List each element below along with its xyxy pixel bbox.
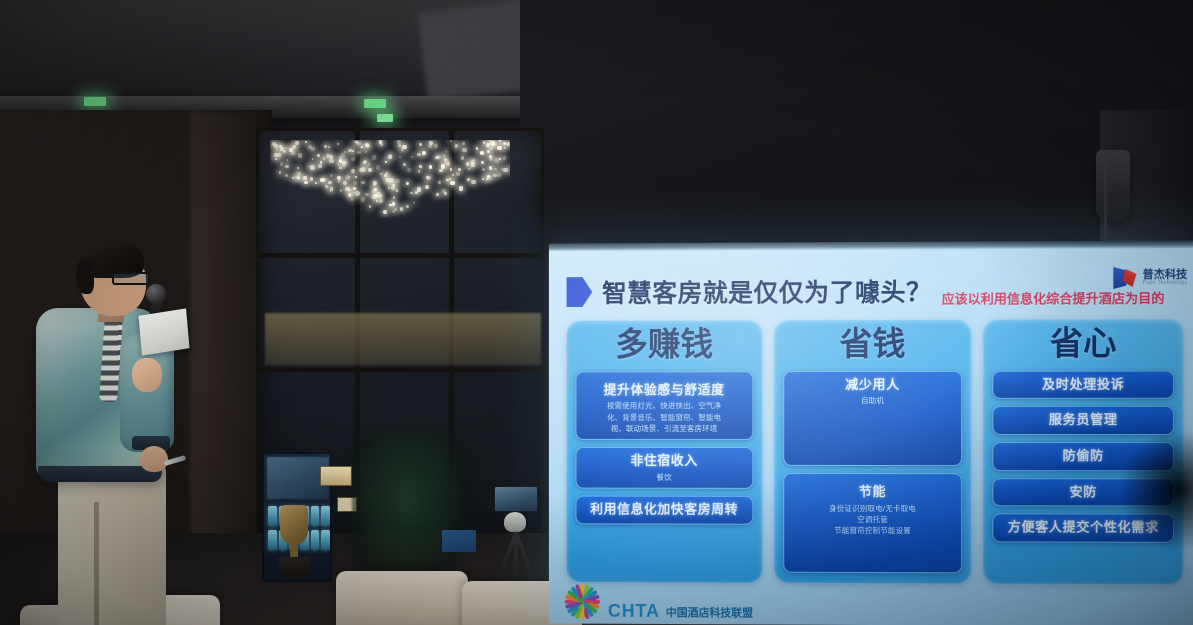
wall-sign — [320, 466, 352, 486]
card-title: 方便客人提交个性化需求 — [999, 518, 1168, 536]
card-body-line: 按需使用灯光、快进快出、空气净 — [581, 401, 747, 412]
sofa — [336, 571, 468, 625]
corporate-logo-name: 普杰科技 Pujie Technology — [1143, 269, 1188, 286]
glass-rail — [259, 367, 541, 372]
presenter-trousers — [58, 462, 166, 625]
potted-plant — [352, 430, 472, 590]
card-body: 身份证识别取电/无卡取电空调托管节能窗帘控制节能设置 — [789, 502, 957, 536]
card-title: 节能 — [789, 483, 957, 501]
exit-sign-icon — [377, 114, 393, 122]
pujie-logo-icon — [1113, 267, 1137, 289]
card-title: 安防 — [999, 483, 1168, 501]
crystal-chandelier — [270, 140, 510, 218]
slide-subtitle: 应该以利用信息化综合提升酒店为目的 — [942, 287, 1165, 307]
card-title: 利用信息化加快客房周转 — [581, 501, 747, 519]
footer-logo: CHTA 中国酒店科技联盟 — [563, 582, 753, 623]
card-body: 餐饮 — [581, 471, 747, 482]
column-title: 省心 — [993, 325, 1175, 365]
screenshot-stage: 智慧客房就是仅仅为了噱头？ 应该以利用信息化综合提升酒店为目的 普杰科技 Puj… — [0, 0, 1193, 625]
corp-name-cn: 普杰科技 — [1143, 268, 1188, 280]
slide-card: 服务员管理 — [993, 406, 1175, 435]
slide-column: 省钱减少用人自助机节能身份证识别取电/无卡取电空调托管节能窗帘控制节能设置 — [774, 320, 972, 584]
slide-title: 智慧客房就是仅仅为了噱头？ — [602, 273, 932, 310]
corporate-logo: 普杰科技 Pujie Technology — [1113, 267, 1187, 289]
card-title: 提升体验感与舒适度 — [581, 381, 747, 399]
ceiling-speaker — [1096, 150, 1130, 222]
slide-card: 利用信息化加快客房周转 — [575, 496, 753, 525]
card-title: 服务员管理 — [999, 411, 1168, 429]
card-body-line: 节能窗帘控制节能设置 — [789, 525, 957, 537]
slide-card: 防偷防 — [993, 442, 1175, 471]
card-body: 自助机 — [789, 395, 957, 406]
card-body: 按需使用灯光、快进快出、空气净化、背景音乐、智能窗帘、智能电视、联动场景、引流至… — [581, 401, 747, 435]
slide-card: 提升体验感与舒适度按需使用灯光、快进快出、空气净化、背景音乐、智能窗帘、智能电视… — [575, 371, 753, 440]
trophy — [278, 505, 310, 577]
card-body-line: 视、联动场景、引流至客房环境 — [581, 423, 747, 434]
slide-card: 安防 — [993, 478, 1175, 507]
presenter-hair-side — [76, 260, 94, 294]
arrow-bullet-icon — [567, 277, 593, 307]
chta-abbr: CHTA — [608, 601, 660, 622]
chta-name: 中国酒店科技联盟 — [666, 604, 753, 622]
microphone-flag — [138, 308, 189, 355]
wall-poster — [442, 530, 476, 552]
chta-burst-icon — [563, 582, 602, 622]
card-title: 防偷防 — [999, 447, 1168, 465]
microphone-icon — [146, 284, 166, 304]
camera-icon — [494, 486, 538, 512]
corp-name-latin: Pujie Technology — [1143, 281, 1188, 286]
card-body-line: 自助机 — [789, 395, 957, 406]
glass-amber-reflection — [265, 313, 541, 365]
presenter-leg-seam — [94, 502, 99, 625]
slide-column: 多赚钱提升体验感与舒适度按需使用灯光、快进快出、空气净化、背景音乐、智能窗帘、智… — [567, 320, 762, 582]
slide-column: 省心及时处理投诉服务员管理防偷防安防方便客人提交个性化需求 — [984, 319, 1184, 584]
card-title: 及时处理投诉 — [999, 375, 1168, 393]
glasses-icon — [112, 272, 150, 285]
exit-sign-icon — [84, 97, 106, 106]
glass-rail — [259, 253, 541, 258]
slide-card: 非住宿收入餐饮 — [575, 447, 753, 489]
slide-card: 及时处理投诉 — [993, 370, 1175, 399]
slide-card: 方便客人提交个性化需求 — [993, 513, 1175, 542]
card-body-line: 空调托管 — [789, 514, 957, 526]
card-body-line: 化、背景音乐、智能窗帘、智能电 — [581, 412, 747, 423]
presenter-hand — [140, 446, 168, 472]
slide-columns: 多赚钱提升体验感与舒适度按需使用灯光、快进快出、空气净化、背景音乐、智能窗帘、智… — [567, 319, 1184, 584]
slide-card: 减少用人自助机 — [783, 371, 963, 466]
presenter — [28, 240, 218, 625]
column-title: 多赚钱 — [575, 326, 753, 365]
card-title: 非住宿收入 — [581, 452, 747, 470]
presenter-hand-holding-mic — [132, 358, 162, 392]
slide-header: 智慧客房就是仅仅为了噱头？ 应该以利用信息化综合提升酒店为目的 — [567, 265, 1186, 317]
card-title: 减少用人 — [789, 376, 957, 394]
card-body-line: 餐饮 — [581, 471, 747, 482]
card-body-line: 身份证识别取电/无卡取电 — [789, 502, 957, 514]
exit-sign-icon — [364, 99, 386, 108]
projection-screen: 智慧客房就是仅仅为了噱头？ 应该以利用信息化综合提升酒店为目的 普杰科技 Puj… — [549, 240, 1193, 625]
column-title: 省钱 — [783, 326, 963, 365]
slide-card: 节能身份证识别取电/无卡取电空调托管节能窗帘控制节能设置 — [783, 473, 963, 573]
